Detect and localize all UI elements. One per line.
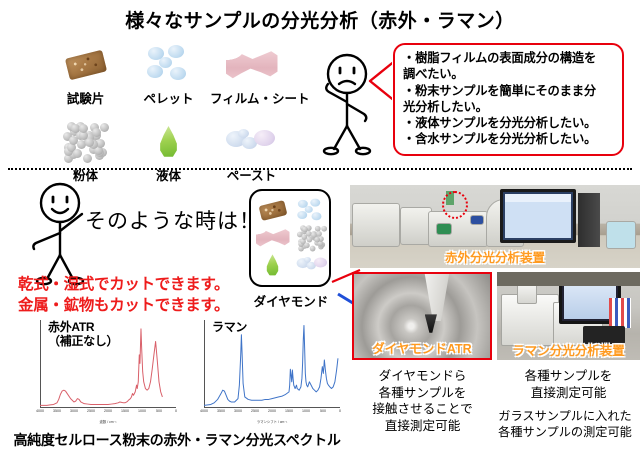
section-divider	[8, 168, 632, 170]
chart-x-ticks: 波数 / cm⁻¹ 400035003000250020001500100050…	[40, 409, 176, 419]
cutting-capability-text: 乾式・湿式でカットできます。 金属・鉱物もカットできます。	[18, 274, 229, 316]
chart-x-tick-label: 2500	[251, 409, 259, 413]
raman-spectrometer-photo: ラマン分光分析装置	[497, 272, 640, 360]
photo-caption: ダイヤモンドATR	[354, 338, 490, 357]
liquid-drop-icon	[255, 252, 290, 279]
diamond-box-label: ダイヤモンド	[239, 291, 343, 310]
lower-headline: そのような時は！	[85, 205, 261, 235]
requirements-speech-bubble: ・樹脂フィルムの表面成分の構造を 調べたい。 ・粉末サンプルを簡単にそのまま分 …	[393, 43, 624, 156]
ir-atr-spectrum-chart: 赤外ATR （補正なし） 波数 / cm⁻¹ 40003500300025002…	[26, 318, 178, 422]
raman-spectrum-chart: ラマン ラマンシフト / cm⁻¹ 4000350030002500200015…	[190, 318, 342, 422]
powder-icon	[44, 117, 127, 167]
chart-x-tick-label: 3000	[70, 409, 78, 413]
chart-x-tick-label: 1000	[302, 409, 310, 413]
sample-item-film: フィルム・シート	[210, 40, 293, 107]
bubble-line: ・樹脂フィルムの表面成分の構造を	[403, 50, 615, 66]
chart-x-tick-label: 3500	[217, 409, 225, 413]
sample-item-pellet: ペレット	[127, 40, 210, 107]
photo-caption: ラマン分光分析装置	[497, 340, 640, 359]
chart-x-tick-label: 1500	[121, 409, 129, 413]
bubble-line: ・含水サンプルを分光分析したい。	[403, 131, 615, 147]
chart-x-tick-label: 2000	[104, 409, 112, 413]
spectra-caption: 高純度セルロース粉末の赤外・ラマン分光スペクトル	[10, 430, 344, 450]
diamond-atr-photo: ダイヤモンドATR	[352, 272, 492, 360]
sample-item-liquid: 液体	[127, 117, 210, 184]
sample-item-powder: 粉体	[44, 117, 127, 184]
chart-x-title: ラマンシフト / cm⁻¹	[204, 419, 340, 424]
raman-description-text-a: 各種サンプルを 直接測定可能	[497, 368, 640, 401]
pellet-icon	[127, 40, 210, 90]
sample-item-specimen: 試験片	[44, 40, 127, 107]
chart-x-tick-label: 2000	[268, 409, 276, 413]
chart-x-tick-label: 4000	[200, 409, 208, 413]
chart-x-tick-label: 500	[156, 409, 162, 413]
happy-person-figure	[20, 181, 98, 289]
specimen-chip-icon	[44, 40, 127, 90]
atr-description-text: ダイヤモンドら 各種サンプルを 接触させることで 直接測定可能	[350, 368, 495, 434]
chart-x-tick-label: 1500	[285, 409, 293, 413]
red-line: 乾式・湿式でカットできます。	[18, 274, 229, 295]
slide-root: 様々なサンプルの分光分析（赤外・ラマン） 試験片 ペレット フィルム・シート	[0, 0, 640, 452]
chart-x-tick-label: 0	[339, 409, 341, 413]
sample-item-paste: ペースト	[210, 117, 293, 184]
bubble-line: ・液体サンプルを分光分析したい。	[403, 115, 615, 131]
film-sheet-icon	[210, 40, 293, 90]
sample-label: フィルム・シート	[210, 88, 293, 107]
paste-icon	[210, 117, 293, 167]
chart-line-path	[40, 320, 176, 408]
powder-icon	[290, 224, 325, 251]
film-sheet-icon	[255, 224, 290, 251]
pellet-icon	[290, 197, 325, 224]
sample-row-1: 試験片 ペレット フィルム・シート	[44, 40, 294, 107]
chart-x-tick-label: 3500	[53, 409, 61, 413]
sample-type-grid: 試験片 ペレット フィルム・シート 粉体 液体	[44, 40, 294, 184]
liquid-drop-icon	[127, 117, 210, 167]
chart-x-tick-label: 1000	[138, 409, 146, 413]
chart-x-tick-label: 2500	[87, 409, 95, 413]
paste-icon	[290, 252, 325, 279]
ir-spectrometer-photo: 赤外分光分析装置	[350, 185, 640, 268]
chart-x-title: 波数 / cm⁻¹	[40, 419, 176, 424]
chart-x-tick-label: 4000	[36, 409, 44, 413]
chart-line-path	[204, 320, 340, 408]
red-line: 金属・鉱物もカットできます。	[18, 295, 229, 316]
specimen-chip-icon	[255, 197, 290, 224]
sample-row-2: 粉体 液体 ペースト	[44, 117, 294, 184]
raman-description-text-b: ガラスサンプルに入れた 各種サンプルの測定可能	[490, 408, 640, 440]
bubble-line: 調べたい。	[403, 66, 615, 82]
diamond-sample-box	[249, 189, 331, 287]
photo-caption: 赤外分光分析装置	[350, 247, 640, 266]
chart-x-ticks: ラマンシフト / cm⁻¹ 40003500300025002000150010…	[204, 409, 340, 419]
chart-x-tick-label: 3000	[234, 409, 242, 413]
sample-label: ペレット	[127, 88, 210, 107]
bubble-line: ・粉末サンプルを簡単にそのまま分	[403, 83, 615, 99]
bubble-line: 光分析したい。	[403, 99, 615, 115]
chart-x-tick-label: 500	[320, 409, 326, 413]
page-title: 様々なサンプルの分光分析（赤外・ラマン）	[0, 6, 640, 33]
sample-label: 試験片	[44, 88, 127, 107]
chart-x-tick-label: 0	[175, 409, 177, 413]
